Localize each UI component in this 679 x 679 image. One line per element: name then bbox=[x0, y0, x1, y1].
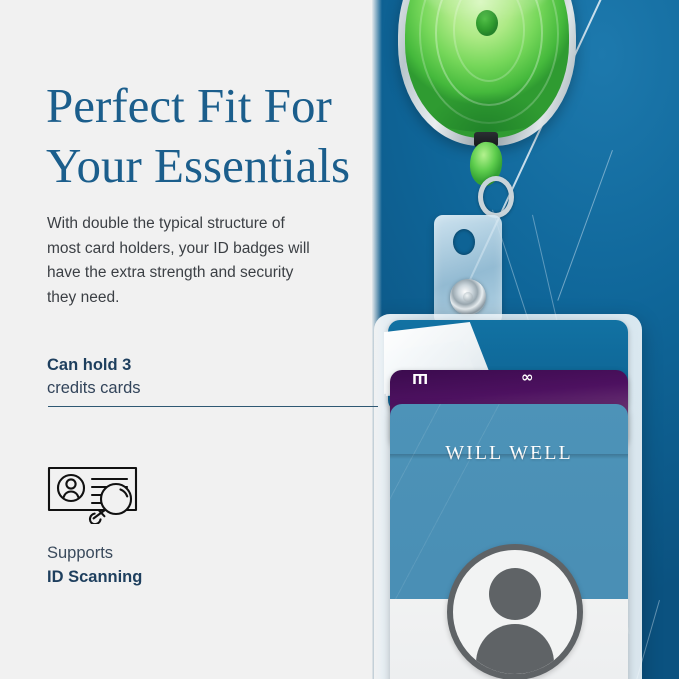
product-marketing-image: Ш ∞ WILL WELL John Doe Perfect Fit For Y… bbox=[0, 0, 679, 679]
card-infinity-glyph: ∞ bbox=[521, 368, 534, 386]
avatar-body bbox=[476, 624, 554, 679]
headline-line-1: Perfect Fit For bbox=[46, 76, 366, 136]
page-title: Perfect Fit For Your Essentials bbox=[46, 76, 366, 196]
photo-left-edge bbox=[372, 0, 382, 679]
feature-scanning-title: Supports bbox=[47, 541, 367, 565]
id-badge-card: WILL WELL John Doe bbox=[390, 404, 628, 679]
metal-loop bbox=[478, 176, 514, 218]
card-chip-glyph: Ш bbox=[412, 370, 428, 385]
headline-line-2: Your Essentials bbox=[46, 136, 366, 196]
vinyl-strap bbox=[434, 215, 502, 325]
snap-button bbox=[450, 279, 486, 315]
product-photo: Ш ∞ WILL WELL John Doe bbox=[372, 0, 679, 679]
id-card-scan-icon bbox=[47, 466, 143, 524]
feature-capacity-subtitle: credits cards bbox=[47, 376, 367, 400]
content-panel: Perfect Fit For Your Essentials With dou… bbox=[0, 0, 372, 679]
divider bbox=[48, 406, 378, 407]
reel-shading bbox=[411, 74, 561, 132]
feature-capacity: Can hold 3 credits cards bbox=[47, 354, 367, 400]
badge-reel bbox=[398, 0, 576, 146]
card-holder: Ш ∞ WILL WELL John Doe bbox=[374, 314, 644, 679]
avatar-head bbox=[489, 568, 541, 620]
strap-hole bbox=[453, 229, 475, 255]
feature-capacity-title: Can hold 3 bbox=[47, 354, 367, 376]
reel-green-body bbox=[405, 0, 569, 138]
body-paragraph: With double the typical structure of mos… bbox=[47, 212, 317, 310]
avatar bbox=[447, 544, 583, 679]
feature-scanning: Supports ID Scanning bbox=[47, 541, 367, 589]
holder-seam bbox=[390, 454, 628, 459]
feature-scanning-subtitle: ID Scanning bbox=[47, 565, 367, 589]
id-card-scan-glyph bbox=[47, 466, 143, 524]
